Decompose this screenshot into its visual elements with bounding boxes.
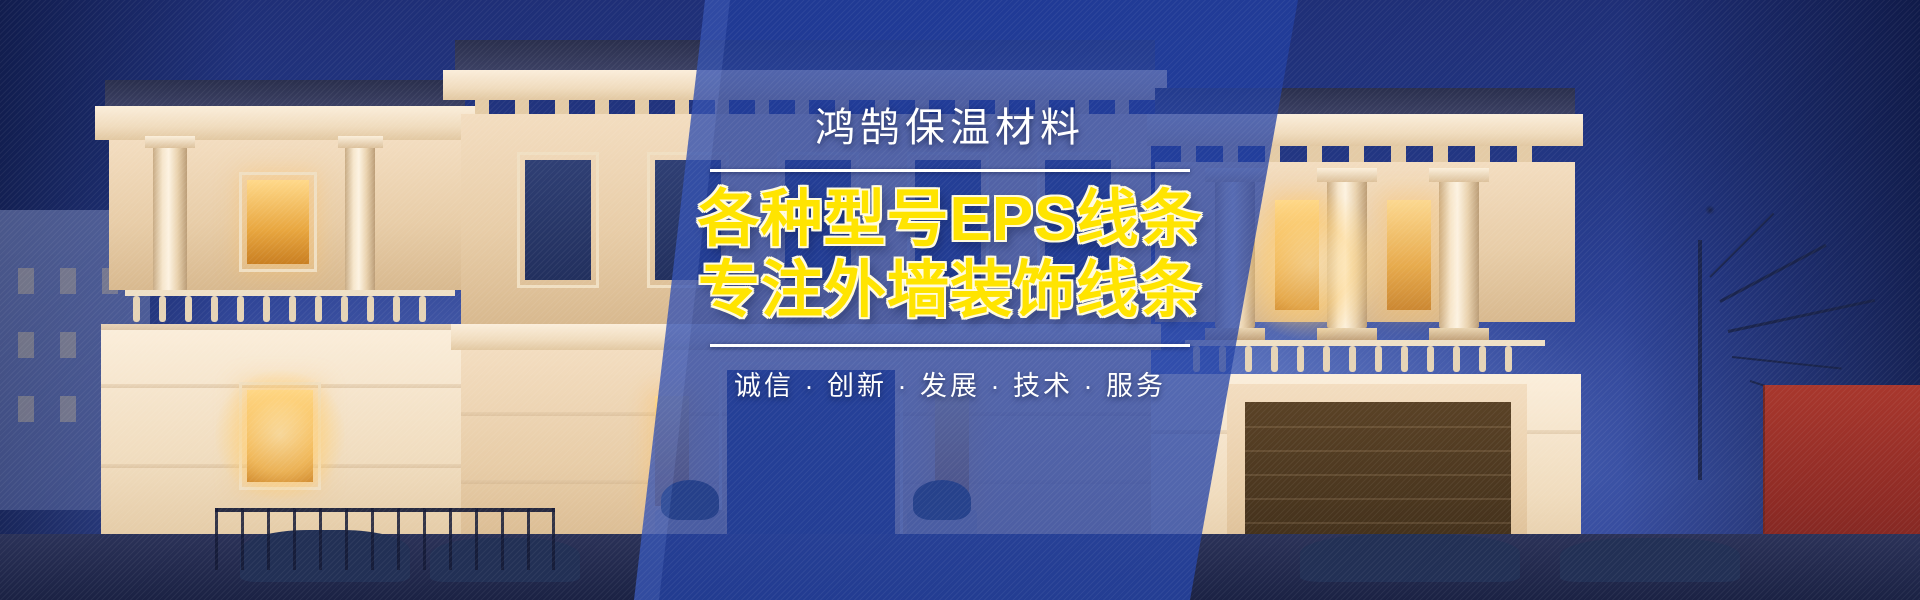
left-wing-column-2 [345,144,375,294]
divider-top [710,169,1190,172]
brand-name: 鸿鹄保温材料 [690,104,1210,152]
promo-banner: 鸿鹄保温材料 各种型号EPS线条 专注外墙装饰线条 诚信 · 创新 · 发展 ·… [0,0,1920,600]
headline-line-2: 专注外墙装饰线条 [690,257,1210,326]
banner-copy: 鸿鹄保温材料 各种型号EPS线条 专注外墙装饰线条 诚信 · 创新 · 发展 ·… [690,104,1210,403]
right-wing-balustrade [1185,340,1545,374]
hedge-3 [1300,534,1520,582]
divider-bottom [710,344,1190,347]
iron-railing [215,508,555,570]
left-wing-balustrade [125,290,455,324]
tagline: 诚信 · 创新 · 发展 · 技术 · 服务 [690,364,1210,403]
left-wing-column-1 [153,144,187,294]
headline-line-1: 各种型号EPS线条 [690,186,1210,255]
hedge-4 [1560,538,1740,582]
left-wing-roof [105,80,465,106]
right-wing-column-3 [1439,180,1479,328]
left-wing-cornice [95,106,475,140]
